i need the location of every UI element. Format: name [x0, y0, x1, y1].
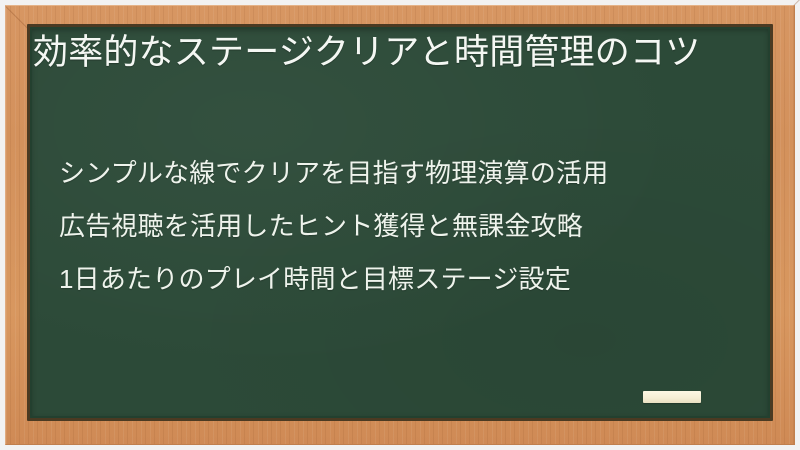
- chalk-stick-icon: [643, 391, 701, 403]
- list-item: 1日あたりのプレイ時間と目標ステージ設定: [59, 253, 749, 306]
- chalkboard-content: 効率的なステージクリアと時間管理のコツ シンプルな線でクリアを目指す物理演算の活…: [30, 27, 770, 418]
- list-item: シンプルな線でクリアを目指す物理演算の活用: [59, 147, 749, 200]
- slide-title: 効率的なステージクリアと時間管理のコツ: [33, 30, 745, 75]
- chalkboard: 効率的なステージクリアと時間管理のコツ シンプルな線でクリアを目指す物理演算の活…: [30, 27, 770, 418]
- list-item: 広告視聴を活用したヒント獲得と無課金攻略: [59, 200, 749, 253]
- bullet-list: シンプルな線でクリアを目指す物理演算の活用 広告視聴を活用したヒント獲得と無課金…: [59, 147, 749, 306]
- slide-canvas: 効率的なステージクリアと時間管理のコツ シンプルな線でクリアを目指す物理演算の活…: [0, 0, 800, 450]
